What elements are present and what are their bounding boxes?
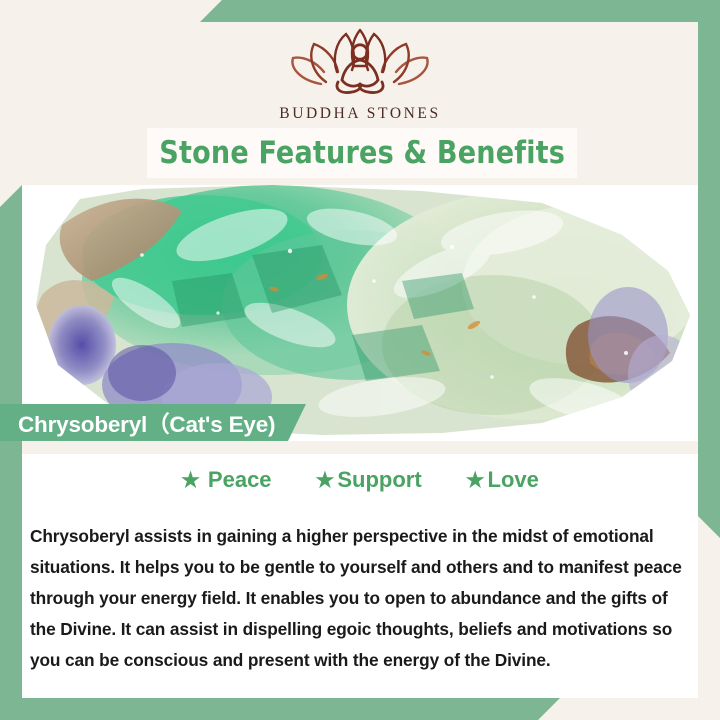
page-title: Stone Features & Benefits	[159, 135, 565, 171]
brand-block: BUDDHA STONES	[0, 22, 720, 122]
frame-band-bottom	[0, 698, 560, 720]
lotus-meditation-icon	[280, 22, 440, 103]
star-icon: ★	[181, 470, 200, 491]
star-icon: ★	[466, 470, 485, 491]
benefit-item-love: ★ Love	[466, 467, 539, 493]
benefit-label: Peace	[208, 467, 272, 493]
stone-description: Chrysoberyl assists in gaining a higher …	[30, 521, 694, 676]
benefit-item-support: ★ Support	[316, 467, 422, 493]
title-banner: Stone Features & Benefits	[147, 128, 577, 178]
benefit-label: Support	[337, 467, 421, 493]
frame-band-top	[200, 0, 720, 22]
stone-photo	[22, 185, 698, 435]
poster-root: BUDDHA STONES Stone Features & Benefits	[0, 0, 720, 720]
benefit-item-peace: ★ Peace	[181, 467, 271, 493]
cream-divider	[22, 441, 698, 454]
stone-name-text: Chrysoberyl（Cat's Eye)	[0, 407, 275, 439]
star-icon: ★	[316, 470, 335, 491]
benefit-label: Love	[488, 467, 539, 493]
frame-band-left	[0, 185, 22, 698]
benefits-row: ★ Peace ★ Support ★ Love	[22, 462, 698, 498]
stone-name-label: Chrysoberyl（Cat's Eye)	[0, 404, 306, 441]
brand-name: BUDDHA STONES	[279, 105, 440, 123]
